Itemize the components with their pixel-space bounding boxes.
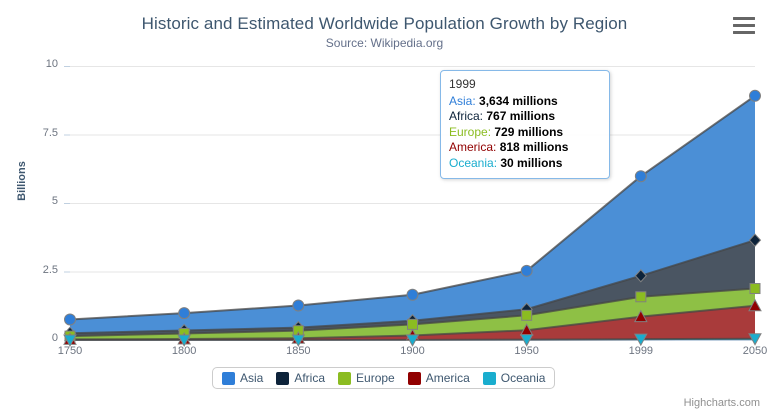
legend-item-africa[interactable]: Africa [276,371,325,385]
legend-swatch-africa [276,372,289,385]
chart-legend[interactable]: AsiaAfricaEuropeAmericaOceania [212,367,555,389]
legend-item-america[interactable]: America [408,371,470,385]
legend-label: America [426,371,470,385]
legend-item-oceania[interactable]: Oceania [483,371,546,385]
tooltip-header: 1999 [449,77,601,93]
data-point-asia-2050[interactable] [750,90,761,101]
data-point-asia-1950[interactable] [521,265,532,276]
tooltip-series-name: Asia: [449,94,479,108]
data-point-asia-1999[interactable] [635,171,646,182]
xaxis-tick-label: 1950 [497,345,557,357]
tooltip-series-name: America: [449,140,500,154]
data-point-asia-1850[interactable] [293,300,304,311]
data-point-asia-1750[interactable] [65,314,76,325]
tooltip-row-asia: Asia: 3,634 millions [449,94,601,110]
data-point-europe-1999[interactable] [636,292,646,302]
xaxis-tick-label: 2050 [725,345,769,357]
xaxis-tick-label: 1999 [611,345,671,357]
data-point-asia-1900[interactable] [407,289,418,300]
credits-label[interactable]: Highcharts.com [684,397,760,409]
xaxis-tick-label: 1900 [383,345,443,357]
legend-swatch-oceania [483,372,496,385]
legend-swatch-asia [222,372,235,385]
legend-swatch-europe [338,372,351,385]
tooltip-row-africa: Africa: 767 millions [449,109,601,125]
tooltip-series-value: 818 millions [500,140,569,154]
tooltip-series-value: 30 millions [500,156,562,170]
highcharts-container: Historic and Estimated Worldwide Populat… [0,0,769,416]
data-point-europe-1900[interactable] [408,319,418,329]
legend-swatch-america [408,372,421,385]
yaxis-tick-label: 10 [18,58,58,70]
legend-item-asia[interactable]: Asia [222,371,263,385]
xaxis-tick-label: 1750 [40,345,100,357]
chart-tooltip: 1999 Asia: 3,634 millionsAfrica: 767 mil… [440,70,610,179]
tooltip-rows: Asia: 3,634 millionsAfrica: 767 millions… [449,94,601,172]
xaxis-tick-label: 1800 [154,345,214,357]
tooltip-series-value: 3,634 millions [479,94,558,108]
tooltip-row-oceania: Oceania: 30 millions [449,156,601,172]
yaxis-tick-label: 2.5 [18,264,58,276]
tooltip-series-name: Oceania: [449,156,500,170]
tooltip-row-europe: Europe: 729 millions [449,125,601,141]
legend-item-europe[interactable]: Europe [338,371,395,385]
yaxis-tick-label: 7.5 [18,127,58,139]
legend-label: Africa [294,371,325,385]
tooltip-row-america: America: 818 millions [449,140,601,156]
tooltip-series-value: 767 millions [486,109,555,123]
legend-label: Asia [240,371,263,385]
xaxis-tick-label: 1850 [268,345,328,357]
tooltip-series-name: Africa: [449,109,486,123]
data-point-europe-1950[interactable] [522,310,532,320]
tooltip-series-name: Europe: [449,125,494,139]
data-point-asia-1800[interactable] [179,308,190,319]
data-point-europe-2050[interactable] [750,284,760,294]
yaxis-tick-label: 5 [18,195,58,207]
legend-label: Oceania [501,371,546,385]
tooltip-series-value: 729 millions [494,125,563,139]
yaxis-tick-label: 0 [18,332,58,344]
legend-label: Europe [356,371,395,385]
